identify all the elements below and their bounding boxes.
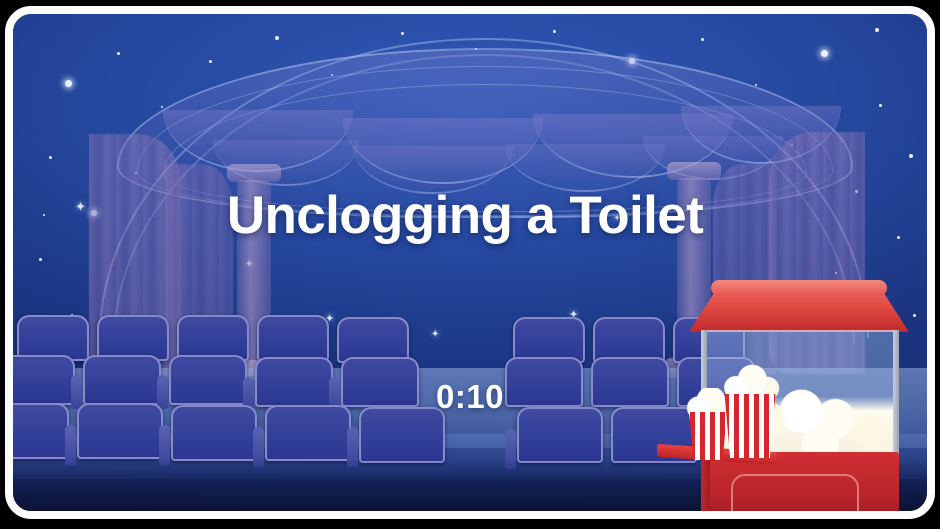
video-duration-timer: 0:10 [13, 378, 927, 416]
white-rounded-frame: ✦ ✦ ✦ ✦ ✦ ✦ [5, 6, 935, 519]
shelf-support-leg [701, 460, 710, 511]
theater-stage-scene: ✦ ✦ ✦ ✦ ✦ ✦ [13, 14, 927, 511]
video-thumbnail-card[interactable]: ✦ ✦ ✦ ✦ ✦ ✦ [0, 0, 940, 529]
popcorn-machine-roof-ridge [711, 280, 887, 296]
base-decorative-panel [731, 474, 859, 511]
sparkle-icon: ✦ [75, 200, 86, 213]
